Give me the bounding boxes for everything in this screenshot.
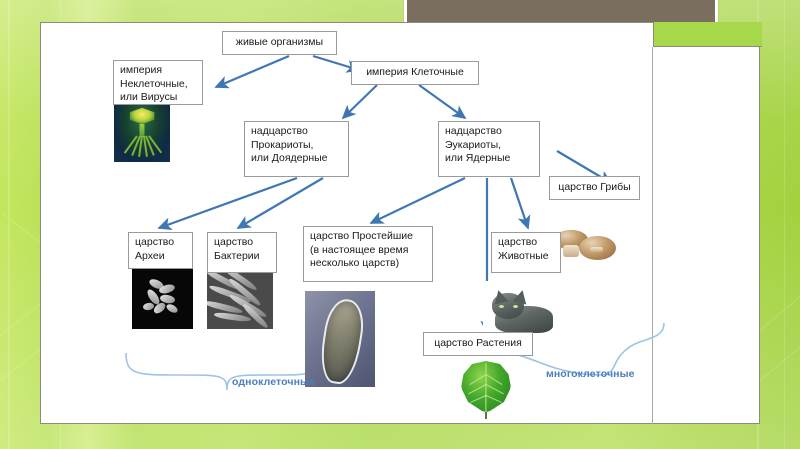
- node-kingdom-plants[interactable]: царство Растения: [423, 332, 533, 356]
- node-empire-cellular[interactable]: империя Клеточные: [351, 61, 479, 85]
- bacteria-micrograph-image: [207, 273, 273, 329]
- node-kingdom-animals[interactable]: царство Животные: [491, 232, 561, 273]
- node-kingdom-protists[interactable]: царство Простейшие (в настоящее время не…: [303, 226, 433, 282]
- node-kingdom-fungi[interactable]: царство Грибы: [549, 176, 640, 200]
- brace-label-multicellular: многоклеточные: [546, 368, 635, 380]
- paramecium-micrograph-image: [305, 291, 375, 387]
- node-root[interactable]: живые организмы: [222, 31, 337, 55]
- node-empire-noncellular[interactable]: империя Неклеточные, или Вирусы: [113, 60, 203, 105]
- cat-image: [483, 281, 557, 337]
- archaea-micrograph-image: [132, 269, 193, 329]
- node-superkingdom-prokaryotes[interactable]: надцарство Прокариоты, или Доядерные: [244, 121, 349, 177]
- slide-content-area: живые организмы империя Неклеточные, или…: [40, 22, 760, 424]
- bacteriophage-image: [114, 99, 170, 162]
- presentation-slide: живые организмы империя Неклеточные, или…: [0, 0, 800, 449]
- node-superkingdom-eukaryotes[interactable]: надцарство Эукариоты, или Ядерные: [438, 121, 540, 177]
- node-kingdom-archaea[interactable]: царство Археи: [128, 232, 193, 269]
- brace-label-unicellular: одноклеточные: [232, 376, 315, 388]
- node-kingdom-bacteria[interactable]: царство Бактерии: [207, 232, 277, 273]
- mushrooms-image: [553, 223, 617, 265]
- leaf-image: [461, 361, 511, 419]
